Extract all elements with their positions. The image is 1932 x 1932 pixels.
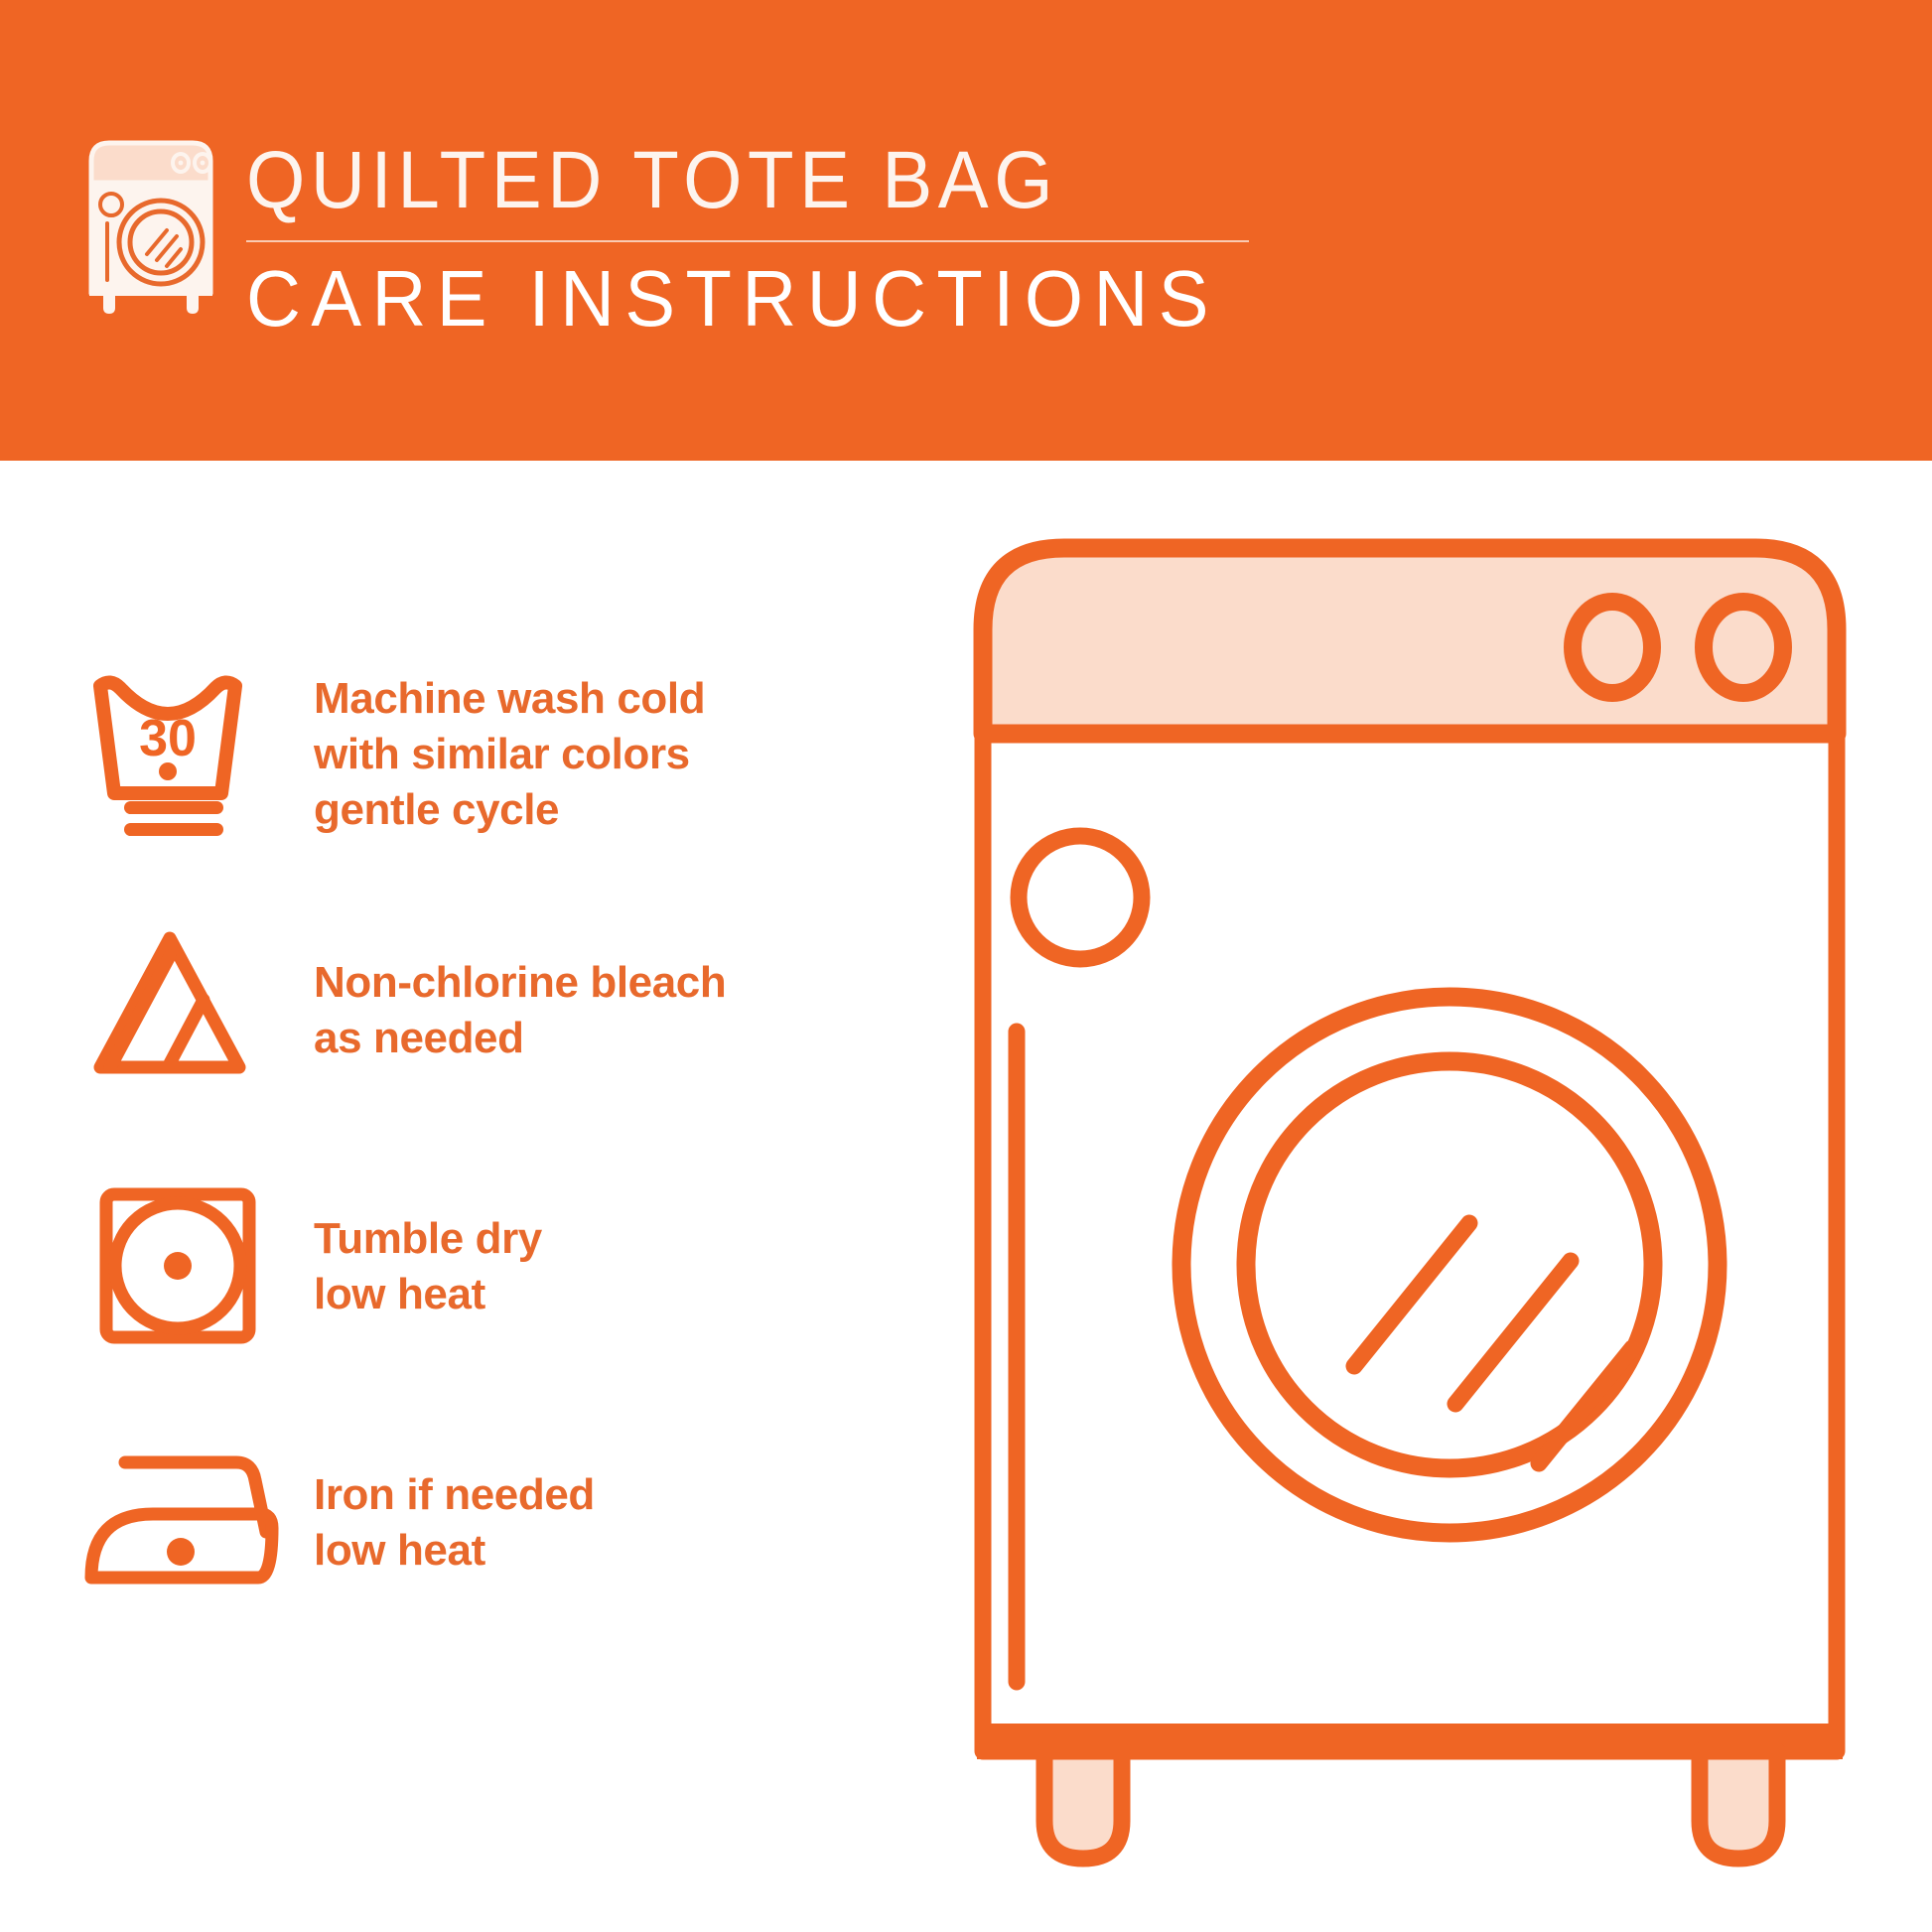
list-item: Non-chlorine bleach as needed	[77, 911, 892, 1168]
care-instruction-list: 30 Machine wash cold with similar colors…	[77, 655, 892, 1680]
list-item-label: Non-chlorine bleach as needed	[286, 911, 892, 1110]
page-title: QUILTED TOTE BAG	[246, 137, 1198, 224]
washing-machine-icon	[77, 131, 224, 316]
tumble-dry-low-icon	[77, 1168, 286, 1366]
care-line: Machine wash cold	[314, 671, 705, 727]
content-area: 30 Machine wash cold with similar colors…	[0, 461, 1932, 1932]
list-item-label: Tumble dry low heat	[286, 1168, 892, 1366]
title-divider	[246, 240, 1249, 242]
care-line: low heat	[314, 1267, 542, 1322]
list-item-label: Machine wash cold with similar colors ge…	[286, 655, 892, 854]
list-item: Iron if needed low heat	[77, 1424, 892, 1680]
header-content: QUILTED TOTE BAG CARE INSTRUCTIONS	[77, 131, 1271, 342]
page-subtitle: CARE INSTRUCTIONS	[246, 256, 1219, 342]
care-line: Tumble dry	[314, 1211, 542, 1267]
care-instructions-page: QUILTED TOTE BAG CARE INSTRUCTIONS 30	[0, 0, 1932, 1932]
list-item: 30 Machine wash cold with similar colors…	[77, 655, 892, 911]
care-line: low heat	[314, 1523, 595, 1579]
list-item: Tumble dry low heat	[77, 1168, 892, 1424]
bleach-triangle-lines-icon	[77, 911, 286, 1110]
iron-low-icon	[77, 1424, 286, 1622]
care-line: as needed	[314, 1011, 726, 1066]
wash-tub-30-gentle-icon: 30	[77, 655, 286, 854]
care-line: Non-chlorine bleach	[314, 955, 726, 1011]
care-line: Iron if needed	[314, 1467, 595, 1523]
list-item-label: Iron if needed low heat	[286, 1424, 892, 1622]
svg-text:30: 30	[139, 710, 197, 767]
washing-machine-illustration	[953, 510, 1866, 1920]
care-line: with similar colors	[314, 727, 705, 782]
header-banner: QUILTED TOTE BAG CARE INSTRUCTIONS	[0, 0, 1932, 461]
care-line: gentle cycle	[314, 782, 705, 838]
header-text-block: QUILTED TOTE BAG CARE INSTRUCTIONS	[246, 131, 1271, 342]
